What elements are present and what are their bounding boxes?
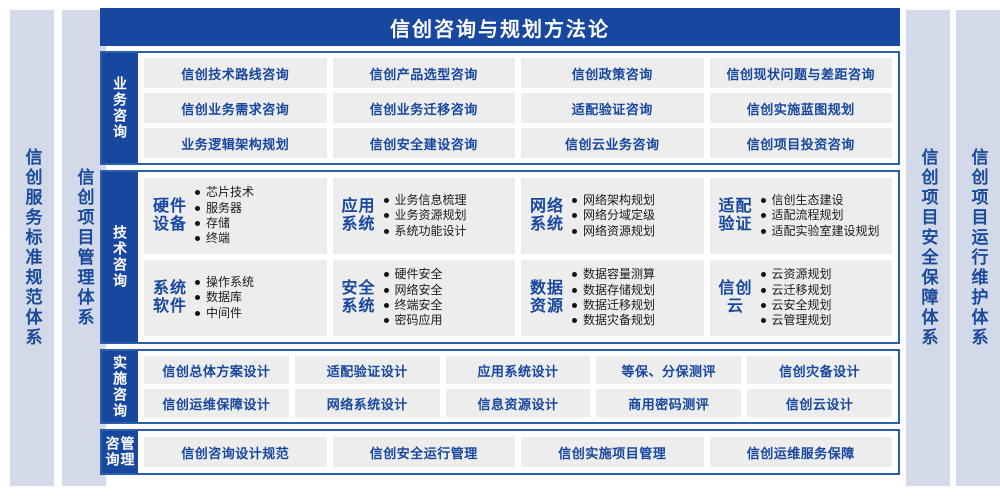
pillar-label: 信创服务标准规范体系 — [24, 148, 41, 348]
section-body-business: 信创技术路线咨询 信创产品选型咨询 信创政策咨询 信创现状问题与差距咨询 信创业… — [138, 53, 898, 163]
list-item: 适配流程规划 — [760, 208, 887, 223]
table-row: 信创运维保障设计 网络系统设计 信息资源设计 商用密码测评 信创云设计 — [144, 389, 892, 417]
tech-card-adaptation[interactable]: 适配验证 信创生态建设 适配流程规划 适配实验室建设规划 — [710, 178, 893, 254]
list-item[interactable]: 商用密码测评 — [596, 389, 741, 417]
list-item: 数据存储规划 — [571, 283, 698, 298]
tech-card-list: 数据容量测算 数据存储规划 数据迁移规划 数据灾备规划 — [571, 267, 698, 328]
list-item[interactable]: 等保、分保测评 — [596, 356, 741, 384]
tech-card-security[interactable]: 安全系统 硬件安全 网络安全 终端安全 密码应用 — [333, 260, 516, 336]
list-item[interactable]: 信创安全运行管理 — [333, 437, 516, 467]
section-business-consulting: 业务咨询 信创技术路线咨询 信创产品选型咨询 信创政策咨询 信创现状问题与差距咨… — [100, 51, 900, 165]
list-item: 密码应用 — [383, 313, 510, 328]
list-item[interactable]: 信创业务需求咨询 — [144, 93, 327, 123]
section-label-technical: 技术咨询 — [102, 172, 138, 342]
list-item: 终端 — [194, 231, 321, 246]
tech-card-title: 安全系统 — [341, 280, 377, 317]
section-body-management: 信创咨询设计规范 信创安全运行管理 信创实施项目管理 信创运维服务保障 — [138, 431, 898, 473]
section-label-business: 业务咨询 — [102, 53, 138, 163]
list-item: 芯片技术 — [194, 185, 321, 200]
tech-card-hardware[interactable]: 硬件设备 芯片技术 服务器 存储 终端 — [144, 178, 327, 254]
list-item: 数据库 — [194, 290, 321, 305]
list-item[interactable]: 信创灾备设计 — [747, 356, 892, 384]
list-item[interactable]: 信创业务迁移咨询 — [333, 93, 516, 123]
list-item[interactable]: 信创咨询设计规范 — [144, 437, 327, 467]
tech-card-cloud[interactable]: 信创云 云资源规划 云迁移规划 云安全规划 云管理规划 — [710, 260, 893, 336]
list-item[interactable]: 信创产品选型咨询 — [333, 58, 516, 88]
list-item[interactable]: 信创项目投资咨询 — [710, 128, 893, 158]
pillar-label: 信创项目安全保障体系 — [920, 148, 937, 348]
section-technical-consulting: 技术咨询 硬件设备 芯片技术 服务器 存储 终端 应用系统 — [100, 170, 900, 344]
list-item: 网络安全 — [383, 283, 510, 298]
list-item: 数据容量测算 — [571, 267, 698, 282]
tech-card-list: 硬件安全 网络安全 终端安全 密码应用 — [383, 267, 510, 328]
list-item: 数据灾备规划 — [571, 313, 698, 328]
list-item: 云资源规划 — [760, 267, 887, 282]
pillar-project-operation-system: 信创项目运行维护体系 — [956, 10, 1000, 486]
pillar-service-standard-system: 信创服务标准规范体系 — [10, 10, 54, 486]
diagram-title-bar: 信创咨询与规划方法论 — [100, 8, 900, 46]
list-item[interactable]: 信息资源设计 — [446, 389, 591, 417]
list-item[interactable]: 信创总体方案设计 — [144, 356, 289, 384]
list-item: 适配实验室建设规划 — [760, 224, 887, 239]
list-item: 网络资源规划 — [571, 224, 698, 239]
list-item: 业务信息梳理 — [383, 193, 510, 208]
list-item: 中间件 — [194, 306, 321, 321]
section-label-management: 咨询 管理 — [102, 431, 138, 473]
list-item: 终端安全 — [383, 298, 510, 313]
list-item: 信创生态建设 — [760, 193, 887, 208]
tech-card-title: 信创云 — [718, 280, 754, 317]
table-row: 信创技术路线咨询 信创产品选型咨询 信创政策咨询 信创现状问题与差距咨询 — [144, 58, 892, 88]
list-item: 云管理规划 — [760, 313, 887, 328]
list-item[interactable]: 信创安全建设咨询 — [333, 128, 516, 158]
table-row: 业务逻辑架构规划 信创安全建设咨询 信创云业务咨询 信创项目投资咨询 — [144, 128, 892, 158]
list-item[interactable]: 适配验证咨询 — [521, 93, 704, 123]
table-row: 系统软件 操作系统 数据库 中间件 安全系统 硬件安全 网络安全 终端安全 — [144, 260, 892, 336]
list-item[interactable]: 适配验证设计 — [295, 356, 440, 384]
table-row: 信创咨询设计规范 信创安全运行管理 信创实施项目管理 信创运维服务保障 — [144, 437, 892, 467]
list-item: 操作系统 — [194, 275, 321, 290]
tech-card-title: 适配验证 — [718, 198, 754, 235]
diagram-root: 信创服务标准规范体系 信创项目管理体系 信创项目安全保障体系 信创项目运行维护体… — [0, 0, 1000, 496]
page-title: 信创咨询与规划方法论 — [390, 13, 610, 42]
tech-card-list: 云资源规划 云迁移规划 云安全规划 云管理规划 — [760, 267, 887, 328]
section-label-text: 技术咨询 — [113, 225, 127, 289]
section-label-text: 实施咨询 — [113, 355, 127, 419]
section-implementation-consulting: 实施咨询 信创总体方案设计 适配验证设计 应用系统设计 等保、分保测评 信创灾备… — [100, 349, 900, 424]
list-item: 网络架构规划 — [571, 193, 698, 208]
pillar-label: 信创项目管理体系 — [76, 168, 93, 328]
main-column: 信创咨询与规划方法论 业务咨询 信创技术路线咨询 信创产品选型咨询 信创政策咨询… — [100, 8, 900, 488]
list-item[interactable]: 信创实施项目管理 — [521, 437, 704, 467]
tech-card-title: 网络系统 — [529, 198, 565, 235]
list-item[interactable]: 信创技术路线咨询 — [144, 58, 327, 88]
list-item[interactable]: 信创运维服务保障 — [710, 437, 893, 467]
tech-card-title: 数据资源 — [529, 280, 565, 317]
tech-card-list: 信创生态建设 适配流程规划 适配实验室建设规划 — [760, 193, 887, 239]
section-label-text-col2: 管理 — [121, 436, 135, 468]
list-item: 云安全规划 — [760, 298, 887, 313]
list-item[interactable]: 信创现状问题与差距咨询 — [710, 58, 893, 88]
tech-card-system-software[interactable]: 系统软件 操作系统 数据库 中间件 — [144, 260, 327, 336]
section-body-implementation: 信创总体方案设计 适配验证设计 应用系统设计 等保、分保测评 信创灾备设计 信创… — [138, 351, 898, 422]
tech-card-list: 操作系统 数据库 中间件 — [194, 275, 321, 321]
list-item[interactable]: 信创政策咨询 — [521, 58, 704, 88]
section-consulting-management: 咨询 管理 信创咨询设计规范 信创安全运行管理 信创实施项目管理 信创运维服务保… — [100, 429, 900, 475]
list-item: 网络分域定级 — [571, 208, 698, 223]
table-row: 信创业务需求咨询 信创业务迁移咨询 适配验证咨询 信创实施蓝图规划 — [144, 93, 892, 123]
pillar-label: 信创项目运行维护体系 — [970, 148, 987, 348]
list-item: 系统功能设计 — [383, 224, 510, 239]
table-row: 信创总体方案设计 适配验证设计 应用系统设计 等保、分保测评 信创灾备设计 — [144, 356, 892, 384]
tech-card-list: 网络架构规划 网络分域定级 网络资源规划 — [571, 193, 698, 239]
tech-card-list: 芯片技术 服务器 存储 终端 — [194, 185, 321, 246]
list-item: 硬件安全 — [383, 267, 510, 282]
tech-card-application[interactable]: 应用系统 业务信息梳理 业务资源规划 系统功能设计 — [333, 178, 516, 254]
list-item[interactable]: 应用系统设计 — [446, 356, 591, 384]
list-item: 云迁移规划 — [760, 283, 887, 298]
tech-card-title: 应用系统 — [341, 198, 377, 235]
list-item: 数据迁移规划 — [571, 298, 698, 313]
section-label-text: 业务咨询 — [113, 76, 127, 140]
list-item[interactable]: 信创实施蓝图规划 — [710, 93, 893, 123]
list-item: 存储 — [194, 216, 321, 231]
list-item[interactable]: 业务逻辑架构规划 — [144, 128, 327, 158]
list-item: 服务器 — [194, 201, 321, 216]
list-item[interactable]: 网络系统设计 — [295, 389, 440, 417]
list-item[interactable]: 信创云设计 — [747, 389, 892, 417]
tech-card-title: 硬件设备 — [152, 198, 188, 235]
section-label-implementation: 实施咨询 — [102, 351, 138, 422]
list-item[interactable]: 信创云业务咨询 — [521, 128, 704, 158]
list-item[interactable]: 信创运维保障设计 — [144, 389, 289, 417]
section-label-text-col1: 咨询 — [106, 436, 120, 468]
tech-card-network[interactable]: 网络系统 网络架构规划 网络分域定级 网络资源规划 — [521, 178, 704, 254]
table-row: 硬件设备 芯片技术 服务器 存储 终端 应用系统 业务信息梳理 业务资源规划 — [144, 178, 892, 254]
tech-card-title: 系统软件 — [152, 280, 188, 317]
tech-card-list: 业务信息梳理 业务资源规划 系统功能设计 — [383, 193, 510, 239]
section-body-technical: 硬件设备 芯片技术 服务器 存储 终端 应用系统 业务信息梳理 业务资源规划 — [138, 172, 898, 342]
tech-card-data-resource[interactable]: 数据资源 数据容量测算 数据存储规划 数据迁移规划 数据灾备规划 — [521, 260, 704, 336]
pillar-project-security-system: 信创项目安全保障体系 — [906, 10, 950, 486]
list-item: 业务资源规划 — [383, 208, 510, 223]
